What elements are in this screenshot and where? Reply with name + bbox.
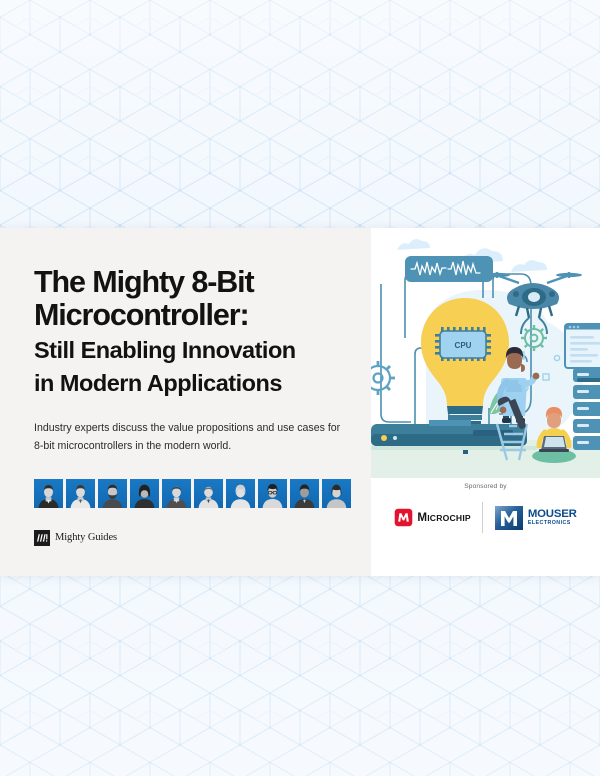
mouser-wordmark: MOUSER ELECTRONICS	[528, 509, 577, 527]
mighty-guides-mark-icon	[34, 530, 50, 546]
contributor-headshot[interactable]	[226, 479, 255, 508]
title-line-1: The Mighty 8-Bit	[34, 266, 344, 299]
person-portrait-icon	[322, 479, 351, 508]
contributor-headshot-strip	[34, 479, 371, 508]
sponsored-by-label: Sponsored by	[371, 483, 600, 490]
sponsor-divider	[482, 502, 483, 533]
page-title: The Mighty 8-Bit Microcontroller: Still …	[34, 266, 344, 396]
contributor-headshot[interactable]	[322, 479, 351, 508]
person-portrait-icon	[194, 479, 223, 508]
hand	[533, 373, 540, 380]
mighty-guides-logo[interactable]: Mighty Guides	[34, 530, 371, 546]
person-portrait-icon	[34, 479, 63, 508]
contributor-headshot[interactable]	[66, 479, 95, 508]
person-portrait-icon	[258, 479, 287, 508]
person-portrait-icon	[162, 479, 191, 508]
title-line-3: Still Enabling Innovation	[34, 337, 344, 364]
microchip-logo[interactable]: MICROCHIP	[394, 508, 470, 527]
sponsor-logo-row: MICROCHIP	[371, 502, 600, 533]
ebook-cover-card: The Mighty 8-Bit Microcontroller: Still …	[0, 228, 600, 576]
mouser-subtitle: ELECTRONICS	[528, 521, 577, 526]
title-line-4: in Modern Applications	[34, 370, 344, 397]
contributor-headshot[interactable]	[98, 479, 127, 508]
contributor-headshot[interactable]	[34, 479, 63, 508]
microchip-mark-icon	[394, 508, 413, 527]
person-portrait-icon	[290, 479, 319, 508]
cpu-chip-label: CPU	[455, 341, 472, 350]
head	[547, 412, 561, 428]
waveform-panel	[405, 256, 493, 282]
person-portrait-icon	[66, 479, 95, 508]
person-portrait-icon	[98, 479, 127, 508]
sponsor-section: Sponsored by MICROCHIP	[371, 483, 600, 533]
contributor-headshot[interactable]	[130, 479, 159, 508]
contributor-headshot[interactable]	[290, 479, 319, 508]
microchip-wordmark: MICROCHIP	[417, 511, 470, 524]
person-portrait-icon	[226, 479, 255, 508]
contributor-headshot[interactable]	[162, 479, 191, 508]
cover-text-panel: The Mighty 8-Bit Microcontroller: Still …	[0, 228, 371, 576]
mouser-logo[interactable]: MOUSER ELECTRONICS	[494, 503, 577, 533]
contributor-headshot[interactable]	[194, 479, 223, 508]
contributor-headshot[interactable]	[258, 479, 287, 508]
cover-deck-text: Industry experts discuss the value propo…	[34, 420, 346, 454]
microchip-name-rest: ICROCHIP	[427, 513, 471, 523]
cover-illustration-panel: CPU	[371, 228, 600, 576]
title-line-2: Microcontroller:	[34, 299, 344, 332]
microcontroller-illustration: CPU	[371, 228, 600, 478]
person-portrait-icon	[130, 479, 159, 508]
cpu-chip-icon: CPU	[435, 327, 491, 361]
stylized-m-glyph	[34, 530, 50, 546]
mouser-mark-icon	[494, 503, 524, 533]
mighty-guides-wordmark: Mighty Guides	[55, 532, 117, 543]
microchip-name-first: M	[417, 511, 427, 524]
mouser-name: MOUSER	[528, 509, 577, 520]
